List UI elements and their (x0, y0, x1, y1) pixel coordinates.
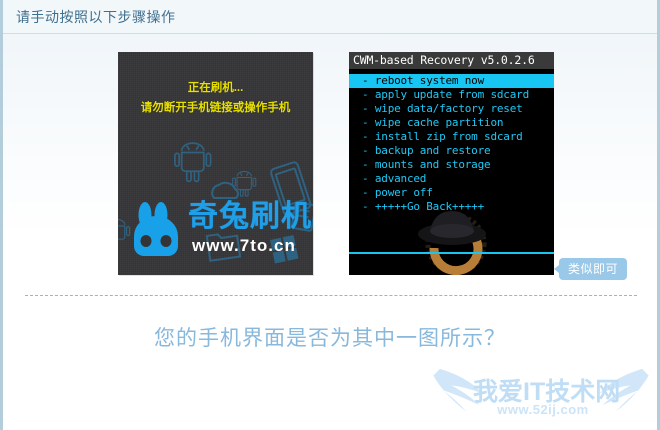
similar-ok-badge: 类似即可 (559, 258, 627, 280)
flashing-progress-screenshot: 正在刷机... 请勿断开手机链接或操作手机 奇兔刷机 www.7to.cn (118, 52, 313, 275)
recovery-menu-item[interactable]: - wipe data/factory reset (349, 102, 554, 116)
dialog-panel: 请手动按照以下步骤操作 (0, 0, 660, 430)
watermark-title: 我爱IT技术网 (473, 372, 613, 408)
panel-header: 请手动按照以下步骤操作 (3, 0, 657, 34)
recovery-menu-item[interactable]: - apply update from sdcard (349, 88, 554, 102)
watermark-url: www.52ij.com (473, 402, 613, 417)
confirmation-question: 您的手机界面是否为其中一图所示？ (3, 322, 657, 352)
flashing-status-line-primary: 正在刷机... (118, 79, 313, 95)
recovery-menu-item[interactable]: - backup and restore (349, 144, 554, 158)
recovery-menu-item[interactable]: - power off (349, 186, 554, 200)
brand-url: www.7to.cn (192, 236, 296, 256)
clockworkmod-hat-icon (404, 200, 504, 275)
flashing-status-line-secondary: 请勿断开手机链接或操作手机 (118, 99, 313, 115)
recovery-divider (349, 252, 554, 254)
brand-name: 奇兔刷机 (188, 200, 312, 234)
recovery-title: CWM-based Recovery v5.0.2.6 (349, 52, 554, 69)
recovery-menu-item[interactable]: - advanced (349, 172, 554, 186)
qitu-brand-logo: 奇兔刷机 www.7to.cn (130, 200, 305, 262)
site-watermark: 我爱IT技术网 www.52ij.com (427, 362, 655, 428)
recovery-menu-item[interactable]: - install zip from sdcard (349, 130, 554, 144)
page-title: 请手动按照以下步骤操作 (16, 7, 176, 27)
rabbit-icon (130, 202, 182, 258)
wings-icon (427, 362, 655, 428)
recovery-menu: - reboot system now- apply update from s… (349, 74, 554, 214)
recovery-menu-item[interactable]: - reboot system now (349, 74, 554, 88)
section-divider (25, 295, 637, 296)
cwm-recovery-screenshot: CWM-based Recovery v5.0.2.6 - reboot sys… (349, 52, 554, 275)
recovery-menu-item[interactable]: - mounts and storage (349, 158, 554, 172)
recovery-menu-item[interactable]: - wipe cache partition (349, 116, 554, 130)
